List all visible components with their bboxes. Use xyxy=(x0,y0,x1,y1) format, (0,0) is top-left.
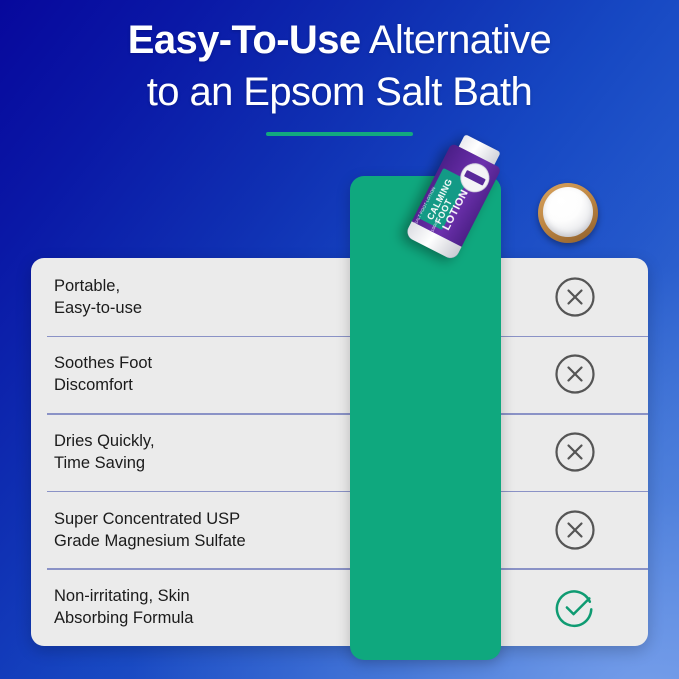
brand-badge-mark xyxy=(464,170,486,186)
feature-label-line-2: Discomfort xyxy=(54,374,350,396)
table-row: Soothes Foot Discomfort xyxy=(31,336,648,414)
alternative-column-cell xyxy=(501,585,648,629)
row-divider xyxy=(47,568,648,569)
salt-bowl-image xyxy=(538,183,598,243)
table-row: Dries Quickly, Time Saving xyxy=(31,413,648,491)
feature-label-line-2: Easy-to-use xyxy=(54,297,350,319)
feature-label: Super Concentrated USP Grade Magnesium S… xyxy=(31,508,350,552)
alternative-column-cell xyxy=(501,431,648,473)
cross-circle-icon xyxy=(554,509,596,551)
row-divider xyxy=(47,491,648,492)
feature-label-line-1: Super Concentrated USP xyxy=(54,508,350,530)
feature-label-line-2: Absorbing Formula xyxy=(54,607,350,629)
table-row: Super Concentrated USP Grade Magnesium S… xyxy=(31,491,648,569)
alternative-column-cell xyxy=(501,353,648,395)
feature-label-line-2: Grade Magnesium Sulfate xyxy=(54,530,350,552)
row-divider xyxy=(47,336,648,337)
promo-infographic: Easy-To-Use Alternative to an Epsom Salt… xyxy=(0,0,679,679)
feature-label-line-1: Dries Quickly, xyxy=(54,430,350,452)
cross-circle-icon xyxy=(554,353,596,395)
feature-label-line-1: Soothes Foot xyxy=(54,352,350,374)
cross-circle-icon xyxy=(554,431,596,473)
comparison-table: Portable, Easy-to-use Soothes Foo xyxy=(31,258,648,646)
feature-label-line-1: Portable, xyxy=(54,275,350,297)
headline-emphasis: Easy-To-Use xyxy=(128,18,361,62)
alternative-column-cell xyxy=(501,509,648,551)
headline-line-2: to an Epsom Salt Bath xyxy=(0,66,679,118)
feature-label: Soothes Foot Discomfort xyxy=(31,352,350,396)
title-underline-rule xyxy=(266,132,413,136)
feature-label-line-2: Time Saving xyxy=(54,452,350,474)
page-title: Easy-To-Use Alternative to an Epsom Salt… xyxy=(0,14,679,118)
feature-label: Portable, Easy-to-use xyxy=(31,275,350,319)
check-circle-icon xyxy=(553,585,597,629)
table-row: Non-irritating, Skin Absorbing Formula xyxy=(31,568,648,646)
headline-line-1-rest: Alternative xyxy=(361,18,552,62)
feature-label-line-1: Non-irritating, Skin xyxy=(54,585,350,607)
cross-circle-icon xyxy=(554,276,596,318)
headline-line-1: Easy-To-Use Alternative xyxy=(0,14,679,66)
table-row: Portable, Easy-to-use xyxy=(31,258,648,336)
row-divider xyxy=(47,413,648,414)
alternative-column-cell xyxy=(501,276,648,318)
feature-label: Non-irritating, Skin Absorbing Formula xyxy=(31,585,350,629)
feature-label: Dries Quickly, Time Saving xyxy=(31,430,350,474)
